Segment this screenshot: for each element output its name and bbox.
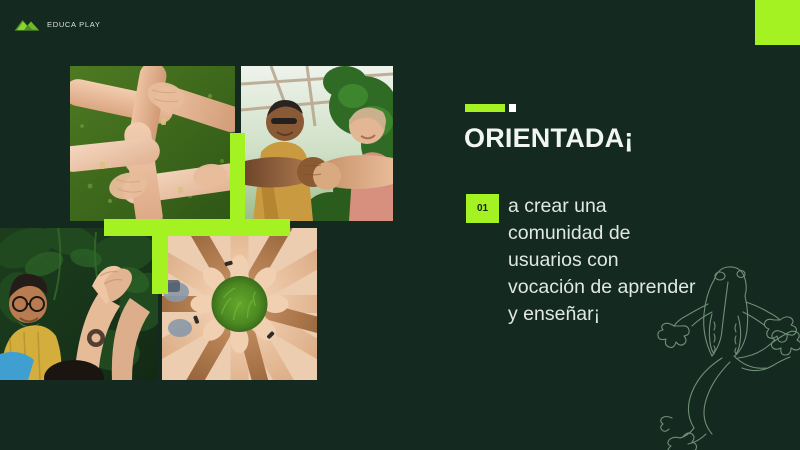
photo-hands-grass [162,228,317,380]
title-rule-bar [465,104,505,112]
photo-hands-circle [70,66,235,221]
body-text: a crear una comunidad de usuarios con vo… [508,193,696,328]
photo-fist-bump [241,66,393,221]
title-rule [465,104,516,112]
title-rule-dot [509,104,516,112]
accent-horizontal-bar [104,219,290,236]
accent-vertical-right-bar [230,133,245,233]
accent-vertical-bar [152,219,168,294]
content-column: ORIENTADA¡ 01 a crear una comunidad de u… [464,0,800,450]
number-badge: 01 [466,194,499,223]
slide-canvas: EDUCA PLAY [0,0,800,450]
page-title: ORIENTADA¡ [464,124,633,154]
image-collage [0,0,420,450]
body-block: 01 a crear una comunidad de usuarios con… [466,193,696,328]
photo-high-five [0,228,158,380]
